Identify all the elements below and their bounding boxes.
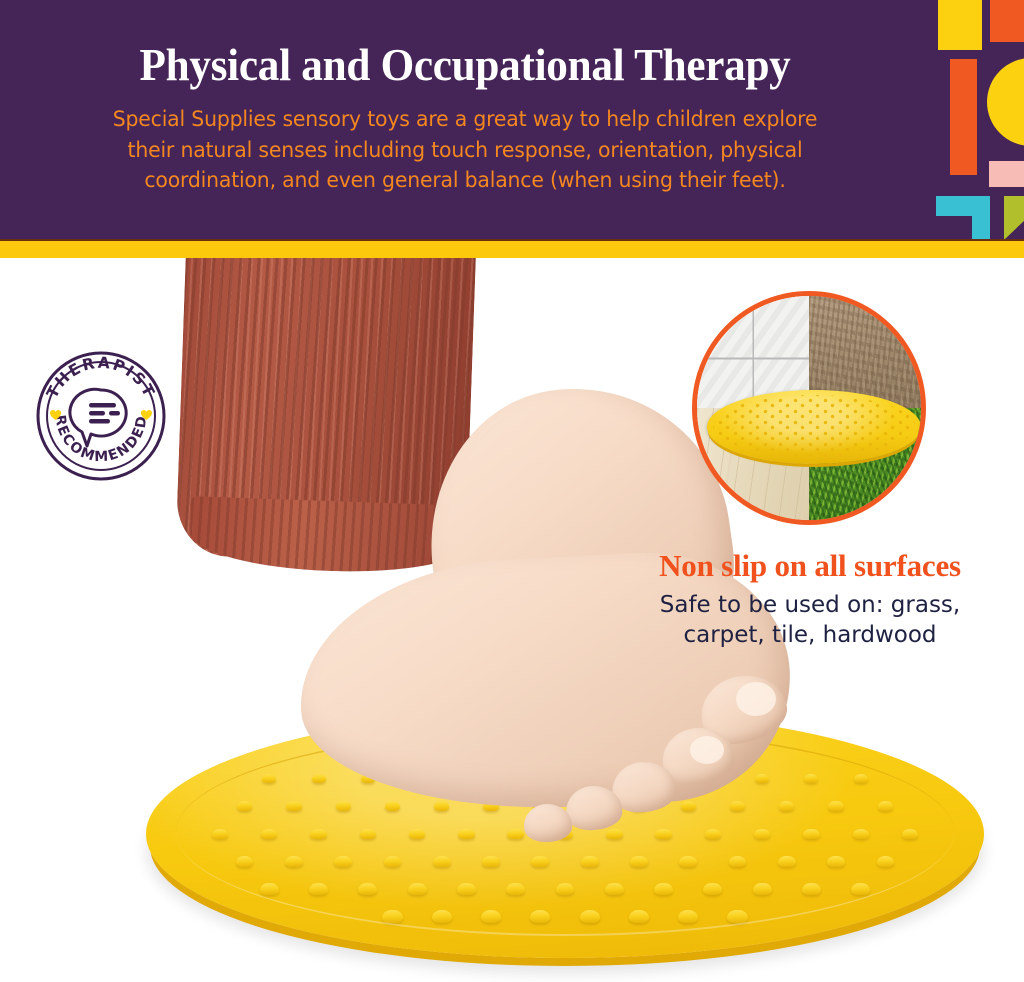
- geometric-decoration: [930, 0, 1024, 239]
- badge-seal-graphic: THERAPIST RECOMMENDED: [35, 350, 167, 482]
- teal-l-shape: [936, 196, 990, 239]
- surfaces-subtext-line-1: Safe to be used on: grass,: [600, 590, 1020, 620]
- toenail-1: [736, 682, 776, 716]
- banner-subtitle-line-3: coordination, and even general balance (…: [40, 166, 889, 197]
- banner-subtitle: Special Supplies sensory toys are a grea…: [40, 105, 889, 197]
- legwarmer-cuff: [189, 496, 473, 576]
- orange-rectangle-shape: [990, 0, 1024, 42]
- product-marketing-image: Physical and Occupational Therapy Specia…: [0, 0, 1024, 982]
- banner-subtitle-line-1: Special Supplies sensory toys are a grea…: [40, 105, 889, 136]
- surfaces-subtext-line-2: carpet, tile, hardwood: [600, 620, 1020, 650]
- surfaces-circle-inset: [692, 291, 926, 525]
- orange-bar-shape: [950, 59, 977, 175]
- yellow-circle-shape: [987, 58, 1024, 146]
- olive-triangle-shape: [1004, 196, 1024, 239]
- inset-sensory-disc: [707, 390, 921, 464]
- banner-subtitle-line-2: their natural senses including touch res…: [40, 136, 889, 167]
- banner-text-block: Physical and Occupational Therapy Specia…: [0, 0, 930, 197]
- toenail-2: [690, 736, 724, 764]
- pink-rectangle-shape: [989, 161, 1024, 187]
- yellow-divider-stripe: [0, 239, 1024, 258]
- surfaces-heading: Non slip on all surfaces: [600, 548, 1020, 584]
- yellow-rectangle-shape: [938, 0, 982, 50]
- surfaces-subtext: Safe to be used on: grass, carpet, tile,…: [600, 590, 1020, 651]
- header-banner: Physical and Occupational Therapy Specia…: [0, 0, 1024, 239]
- page-title: Physical and Occupational Therapy: [36, 42, 894, 89]
- therapist-recommended-badge: THERAPIST RECOMMENDED: [35, 350, 167, 482]
